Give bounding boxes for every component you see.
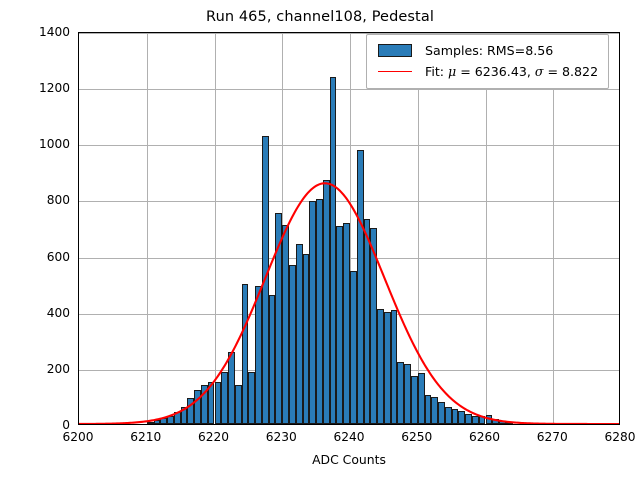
x-axis-title: ADC Counts (312, 452, 386, 467)
x-axis-tick (553, 424, 554, 425)
x-axis-tick-label: 6210 (111, 430, 181, 444)
y-axis-tick-label: 200 (8, 362, 70, 376)
y-axis-tick-label: 1000 (8, 137, 70, 151)
y-axis-tick-label: 1400 (8, 25, 70, 39)
x-axis-tick (215, 424, 216, 425)
x-axis-tick-label: 6230 (246, 430, 316, 444)
legend-swatch-samples (375, 44, 415, 57)
legend-entry-fit: Fit: μ = 6236.43, σ = 8.822 (375, 61, 600, 82)
plot-area (78, 32, 620, 425)
legend-entry-samples: Samples: RMS=8.56 (375, 40, 600, 61)
x-axis-tick (79, 424, 80, 425)
legend-label-fit: Fit: μ = 6236.43, σ = 8.822 (415, 64, 598, 79)
x-axis-tick-label: 6280 (585, 430, 640, 444)
x-axis-tick-label: 6260 (450, 430, 520, 444)
x-axis-tick (486, 424, 487, 425)
x-axis-tick-label: 6250 (382, 430, 452, 444)
legend-swatch-fit (375, 71, 415, 72)
x-axis-tick (418, 424, 419, 425)
y-axis-tick-label: 400 (8, 306, 70, 320)
x-axis-tick (282, 424, 283, 425)
fit-path (79, 183, 619, 424)
legend-box[interactable]: Samples: RMS=8.56 Fit: μ = 6236.43, σ = … (366, 34, 609, 89)
x-axis-tick-label: 6270 (517, 430, 587, 444)
x-axis-tick-label: 6240 (314, 430, 384, 444)
y-axis-tick-label: 600 (8, 250, 70, 264)
x-axis-tick-label: 6220 (179, 430, 249, 444)
figure-canvas: Run 465, channel108, Pedestal 0200400600… (0, 0, 640, 480)
x-axis-tick (147, 424, 148, 425)
legend-label-samples: Samples: RMS=8.56 (415, 43, 553, 58)
x-axis-tick (350, 424, 351, 425)
y-axis-tick-label: 800 (8, 193, 70, 207)
y-axis-tick-label: 1200 (8, 81, 70, 95)
gaussian-fit-curve (79, 33, 619, 424)
x-axis-tick-label: 6200 (43, 430, 113, 444)
